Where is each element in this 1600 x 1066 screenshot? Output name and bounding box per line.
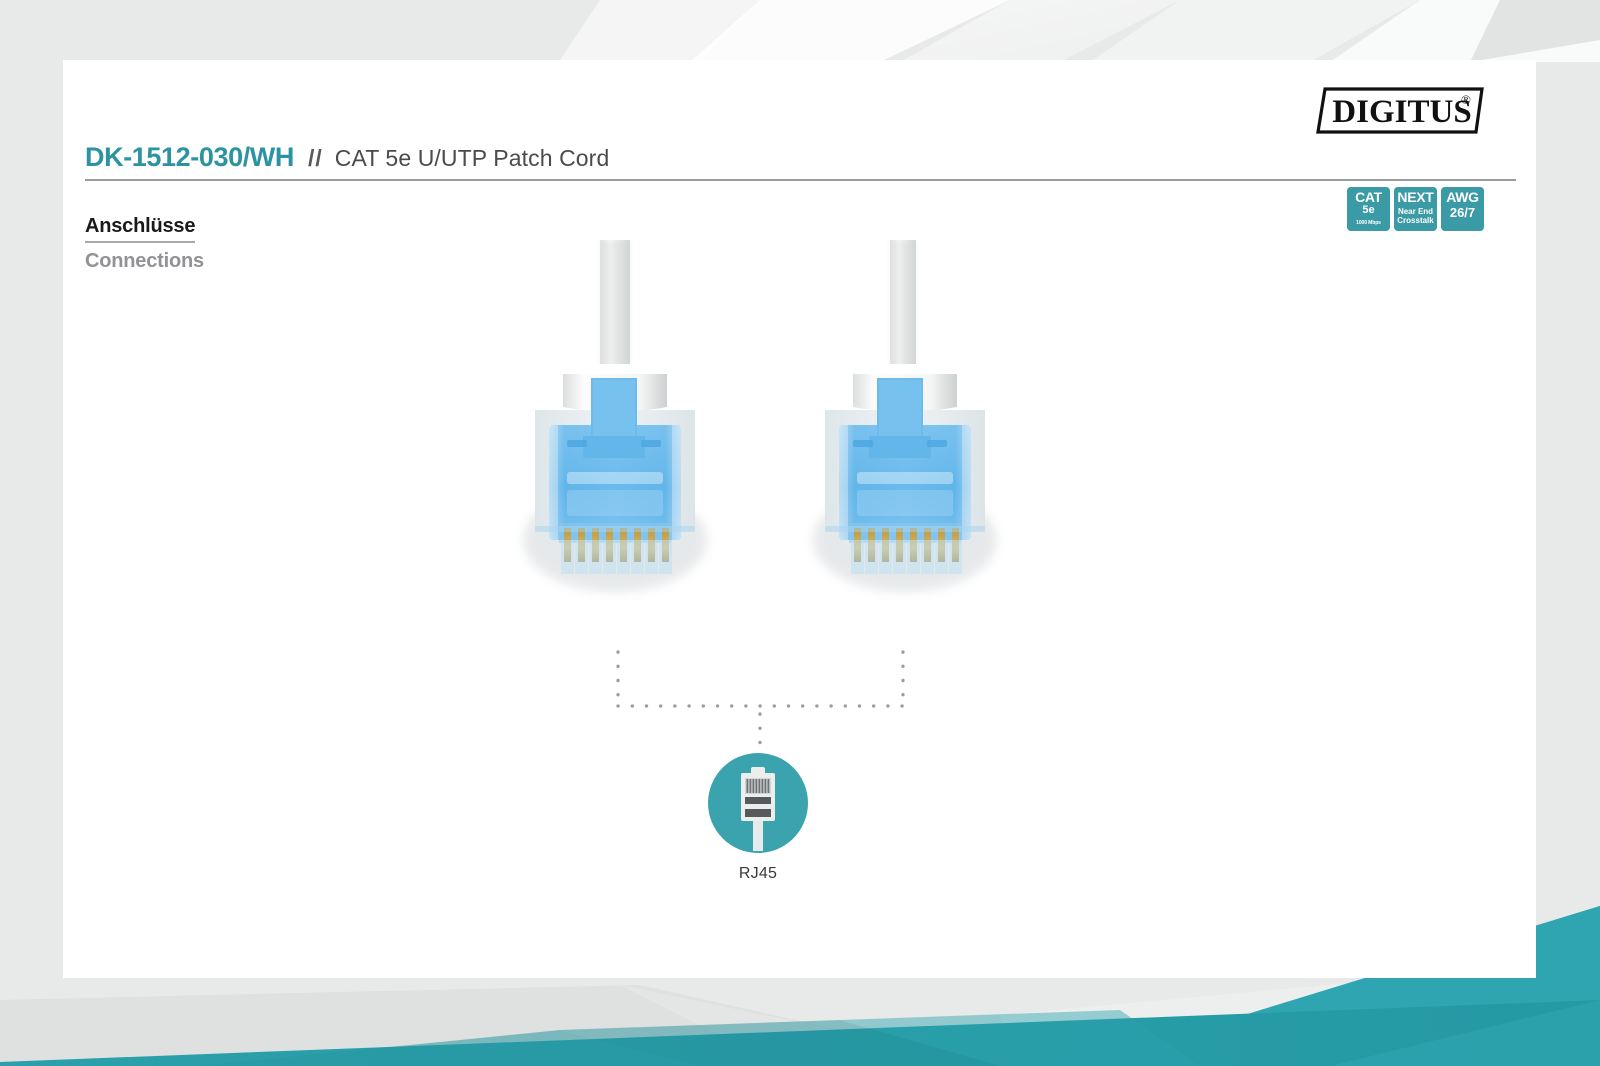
awg-badge-line1: AWG [1446, 190, 1479, 204]
product-photo [463, 240, 1103, 610]
section-heading: Anschlüsse Connections [85, 215, 204, 273]
cat-badge-line1: CAT [1355, 190, 1382, 204]
header-divider [85, 179, 1516, 181]
rj45-plug-photo-left [523, 240, 707, 592]
registered-mark-icon: ® [1461, 92, 1471, 107]
next-badge-line3: Crosstalk [1397, 216, 1433, 225]
part-number: DK-1512-030/WH [85, 142, 294, 173]
rj45-plug-photo-right [813, 240, 997, 592]
next-badge-line1: NEXT [1397, 190, 1433, 204]
rj45-icon-label: RJ45 [658, 865, 858, 883]
next-badge: NEXT Near End Crosstalk [1394, 187, 1437, 231]
awg-badge: AWG 26/7 [1441, 187, 1484, 231]
content-card: DIGITUS ® DK-1512-030/WH // CAT 5e U/UTP… [63, 60, 1536, 978]
cat-badge-line2: 5e [1362, 204, 1374, 216]
next-badge-line2: Near End [1398, 207, 1433, 216]
spec-badge-group: CAT 5e 1000 Mbps NEXT Near End Crosstalk… [1347, 187, 1484, 231]
cat-badge-line3: 1000 Mbps [1356, 220, 1381, 227]
title-separator: // [308, 145, 323, 172]
cat-badge: CAT 5e 1000 Mbps [1347, 187, 1390, 231]
page-title: DK-1512-030/WH // CAT 5e U/UTP Patch Cor… [85, 142, 609, 173]
section-heading-de: Anschlüsse [85, 215, 195, 243]
section-heading-en: Connections [85, 250, 204, 273]
digitus-logo: DIGITUS ® [1316, 87, 1484, 135]
digitus-logo-text: DIGITUS [1332, 94, 1471, 130]
product-title-text: CAT 5e U/UTP Patch Cord [335, 145, 610, 172]
awg-badge-line2: 26/7 [1450, 205, 1475, 220]
rj45-connector-icon [708, 753, 808, 853]
